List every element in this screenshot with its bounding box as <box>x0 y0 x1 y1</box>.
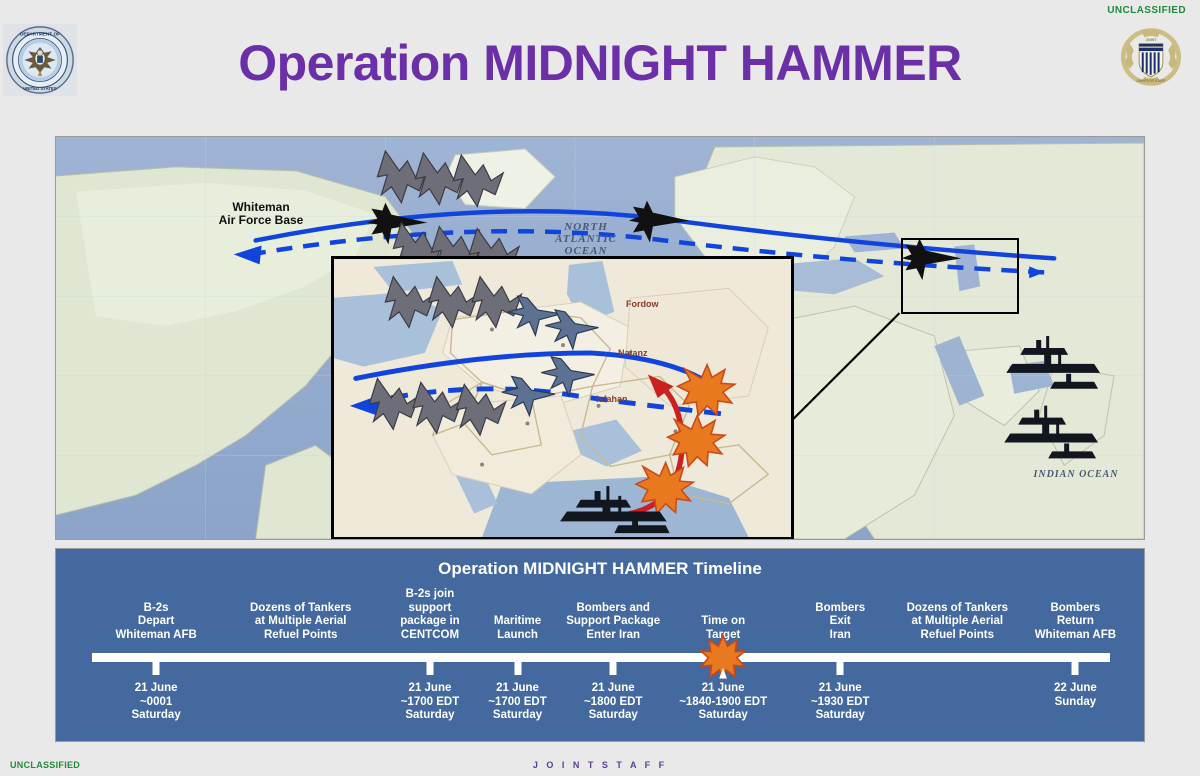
timeline-event-label: BombersReturnWhiteman AFB <box>1035 602 1116 643</box>
timeline-event-label-line: Bombers <box>815 602 865 616</box>
timeline-tick <box>837 653 844 675</box>
timeline-event-date: 21 June~1800 EDTSaturday <box>584 682 643 723</box>
north-atlantic-ocean-label: NORTH ATLANTIC OCEAN <box>531 221 641 257</box>
timeline-event-label: Dozens of Tankersat Multiple AerialRefue… <box>907 602 1008 643</box>
timeline-event-label: B-2sDepartWhiteman AFB <box>115 602 196 643</box>
timeline-event-label-line: Bombers and <box>566 602 660 616</box>
timeline-event-date-line: Saturday <box>401 709 460 723</box>
timeline-tick <box>610 653 617 675</box>
page-title: Operation MIDNIGHT HAMMER <box>0 34 1200 92</box>
timeline-event-date-line: ~0001 <box>132 696 181 710</box>
timeline-event-date: 21 June~1700 EDTSaturday <box>401 682 460 723</box>
timeline-event-label-line: Iran <box>815 629 865 643</box>
timeline-event-date-line: 21 June <box>132 682 181 696</box>
target-label-natanz: Natanz <box>618 348 648 358</box>
timeline-event-date-line: 21 June <box>679 682 767 696</box>
timeline-event-date: 21 June~1840-1900 EDTSaturday <box>679 682 767 723</box>
timeline-event-label-line: CENTCOM <box>400 629 459 643</box>
timeline-event-label-line: B-2s join <box>400 588 459 602</box>
timeline-event-label: B-2s joinsupportpackage inCENTCOM <box>400 588 459 642</box>
whiteman-afb-label: Whiteman Air Force Base <box>196 201 326 227</box>
timeline-event-label-line: Whiteman AFB <box>115 629 196 643</box>
timeline-event-label-line: Exit <box>815 615 865 629</box>
timeline-event-date-line: Sunday <box>1054 696 1097 710</box>
classification-marking-top: UNCLASSIFIED <box>1107 5 1186 16</box>
timeline-event-label-line: Whiteman AFB <box>1035 629 1116 643</box>
timeline-event-date-line: 21 June <box>584 682 643 696</box>
inset-map-graphic <box>334 259 791 537</box>
timeline-event-date-line: 21 June <box>401 682 460 696</box>
timeline-event-label-line: Refuel Points <box>907 629 1008 643</box>
timeline-tick <box>153 653 160 675</box>
timeline-event-date-line: Saturday <box>132 709 181 723</box>
timeline-event-label: MaritimeLaunch <box>494 615 541 642</box>
region-highlight-box <box>901 238 1019 314</box>
target-label-isfahan: Isfahan <box>596 394 628 404</box>
timeline-event-date-line: ~1700 EDT <box>401 696 460 710</box>
timeline-target-burst-icon <box>700 634 746 680</box>
timeline-event-label-line: Return <box>1035 615 1116 629</box>
timeline-event-label-line: Maritime <box>494 615 541 629</box>
timeline-event-date: 21 June~0001Saturday <box>132 682 181 723</box>
briefing-slide: UNCLASSIFIED DEPARTMENT OF UNITED STATES <box>0 0 1200 776</box>
operation-timeline: Operation MIDNIGHT HAMMER Timeline B-2sD… <box>55 548 1145 742</box>
timeline-event-date-line: 21 June <box>811 682 870 696</box>
timeline-event-date: 22 JuneSunday <box>1054 682 1097 709</box>
timeline-event-label-line: support <box>400 602 459 616</box>
timeline-event-label: BombersExitIran <box>815 602 865 643</box>
timeline-event-date: 21 June~1700 EDTSaturday <box>488 682 547 723</box>
middle-east-inset-map: Fordow Natanz Isfahan <box>331 256 794 540</box>
timeline-event-label: Bombers andSupport PackageEnter Iran <box>566 602 660 643</box>
timeline-event-label-line: at Multiple Aerial <box>907 615 1008 629</box>
timeline-event-date-line: Saturday <box>584 709 643 723</box>
timeline-event-label-line: Launch <box>494 629 541 643</box>
timeline-tick <box>1072 653 1079 675</box>
timeline-tick <box>426 653 433 675</box>
timeline-event-label-line: Support Package <box>566 615 660 629</box>
timeline-event-date-line: Saturday <box>811 709 870 723</box>
timeline-event-date-line: ~1930 EDT <box>811 696 870 710</box>
timeline-event-date-line: Saturday <box>679 709 767 723</box>
timeline-event-label-line: B-2s <box>115 602 196 616</box>
target-label-fordow: Fordow <box>626 299 659 309</box>
timeline-event-label-line: Dozens of Tankers <box>250 602 351 616</box>
timeline-title: Operation MIDNIGHT HAMMER Timeline <box>56 559 1144 579</box>
timeline-event-date-line: ~1700 EDT <box>488 696 547 710</box>
timeline-event-label-line: Dozens of Tankers <box>907 602 1008 616</box>
timeline-axis-bar <box>92 653 1110 662</box>
timeline-event-date-line: 22 June <box>1054 682 1097 696</box>
timeline-event-date-line: 21 June <box>488 682 547 696</box>
timeline-event-date-line: ~1840-1900 EDT <box>679 696 767 710</box>
timeline-event-label-line: Time on <box>701 615 745 629</box>
timeline-event-label-line: at Multiple Aerial <box>250 615 351 629</box>
operation-map: Whiteman Air Force Base NORTH ATLANTIC O… <box>55 136 1145 540</box>
timeline-event-date: 21 June~1930 EDTSaturday <box>811 682 870 723</box>
timeline-event-label-line: Refuel Points <box>250 629 351 643</box>
timeline-event-date-line: ~1800 EDT <box>584 696 643 710</box>
timeline-event-label-line: Depart <box>115 615 196 629</box>
joint-staff-footer: J O I N T S T A F F <box>0 760 1200 770</box>
timeline-tick <box>514 653 521 675</box>
timeline-event-label-line: Bombers <box>1035 602 1116 616</box>
indian-ocean-label: INDIAN OCEAN <box>1011 469 1141 480</box>
timeline-event-label-line: Enter Iran <box>566 629 660 643</box>
timeline-event-label-line: package in <box>400 615 459 629</box>
timeline-event-label: Dozens of Tankersat Multiple AerialRefue… <box>250 602 351 643</box>
timeline-event-date-line: Saturday <box>488 709 547 723</box>
